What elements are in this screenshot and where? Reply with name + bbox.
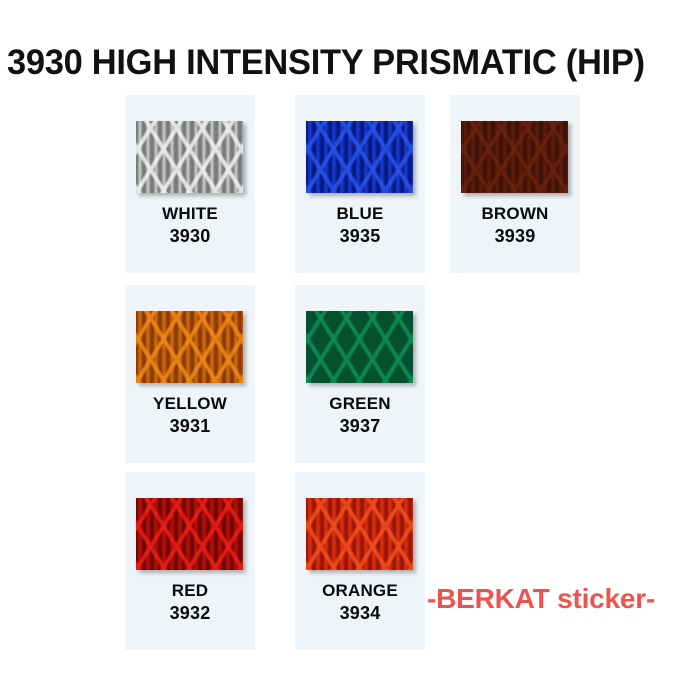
- swatch-caption: BROWN3939: [450, 203, 580, 248]
- swatch-chip-brown: [461, 121, 568, 193]
- swatch-card-white[interactable]: WHITE3930: [125, 95, 255, 273]
- swatch-caption: YELLOW3931: [125, 393, 255, 438]
- swatch-color-name: GREEN: [295, 393, 425, 414]
- prismatic-diamond-lattice: [136, 498, 243, 570]
- swatch-product-code: 3935: [295, 224, 425, 248]
- prismatic-diamond-lattice: [306, 498, 413, 570]
- swatch-card-brown[interactable]: BROWN3939: [450, 95, 580, 273]
- swatch-color-name: ORANGE: [295, 580, 425, 601]
- swatch-caption: RED3932: [125, 580, 255, 625]
- swatch-chip-yellow: [136, 311, 243, 383]
- watermark-prefix: -: [427, 583, 436, 614]
- swatch-card-orange[interactable]: ORANGE3934: [295, 472, 425, 650]
- swatch-card-blue[interactable]: BLUE3935: [295, 95, 425, 273]
- swatch-caption: GREEN3937: [295, 393, 425, 438]
- swatch-color-name: RED: [125, 580, 255, 601]
- swatch-chip-blue: [306, 121, 413, 193]
- swatch-caption: BLUE3935: [295, 203, 425, 248]
- swatch-color-name: BROWN: [450, 203, 580, 224]
- product-color-chart: 3930 HIGH INTENSITY PRISMATIC (HIP) WHIT…: [0, 0, 700, 700]
- swatch-product-code: 3939: [450, 224, 580, 248]
- prismatic-diamond-lattice: [306, 311, 413, 383]
- swatch-color-name: YELLOW: [125, 393, 255, 414]
- prismatic-diamond-lattice: [136, 121, 243, 193]
- watermark-suffix: sticker-: [550, 583, 656, 614]
- swatch-chip-orange: [306, 498, 413, 570]
- prismatic-diamond-lattice: [136, 311, 243, 383]
- swatch-product-code: 3930: [125, 224, 255, 248]
- prismatic-diamond-lattice: [461, 121, 568, 193]
- swatch-chip-red: [136, 498, 243, 570]
- swatch-caption: WHITE3930: [125, 203, 255, 248]
- swatch-chip-green: [306, 311, 413, 383]
- swatch-caption: ORANGE3934: [295, 580, 425, 625]
- swatch-product-code: 3934: [295, 601, 425, 625]
- swatch-product-code: 3937: [295, 414, 425, 438]
- watermark-brand: BERKAT: [436, 583, 549, 614]
- swatch-card-yellow[interactable]: YELLOW3931: [125, 285, 255, 463]
- watermark-berkat-sticker: -BERKAT sticker-: [427, 583, 655, 615]
- swatch-product-code: 3932: [125, 601, 255, 625]
- swatch-card-green[interactable]: GREEN3937: [295, 285, 425, 463]
- swatch-product-code: 3931: [125, 414, 255, 438]
- swatch-card-red[interactable]: RED3932: [125, 472, 255, 650]
- swatch-chip-white: [136, 121, 243, 193]
- swatch-color-name: BLUE: [295, 203, 425, 224]
- prismatic-diamond-lattice: [306, 121, 413, 193]
- swatch-color-name: WHITE: [125, 203, 255, 224]
